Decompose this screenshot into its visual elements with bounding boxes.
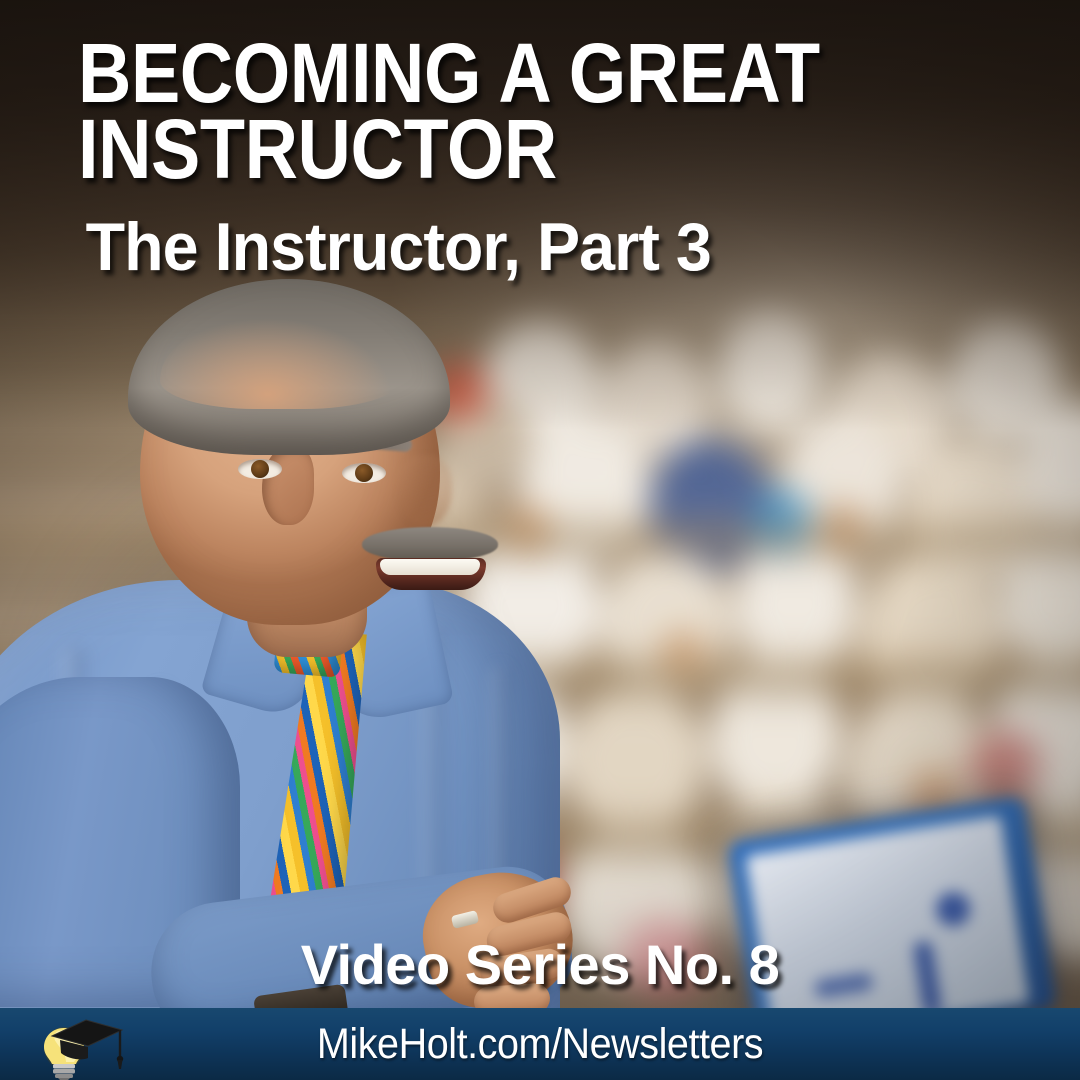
nose bbox=[398, 455, 452, 527]
footer-bar: MikeHolt.com/Newsletters bbox=[0, 1008, 1080, 1080]
series-label: Video Series No. 8 bbox=[0, 932, 1080, 997]
promo-poster: BECOMING A GREAT INSTRUCTOR The Instruct… bbox=[0, 0, 1080, 1080]
page-title: BECOMING A GREAT INSTRUCTOR bbox=[78, 36, 905, 187]
title-block: BECOMING A GREAT INSTRUCTOR The Instruct… bbox=[78, 36, 1018, 281]
smile bbox=[376, 558, 486, 590]
eye-left bbox=[238, 459, 282, 479]
page-subtitle: The Instructor, Part 3 bbox=[78, 187, 971, 281]
instructor-portrait bbox=[0, 285, 640, 1010]
hair bbox=[128, 279, 450, 455]
ear bbox=[262, 445, 314, 525]
mustache bbox=[362, 527, 498, 561]
eye-right bbox=[342, 463, 386, 483]
newsletter-url[interactable]: MikeHolt.com/Newsletters bbox=[43, 1020, 1037, 1069]
